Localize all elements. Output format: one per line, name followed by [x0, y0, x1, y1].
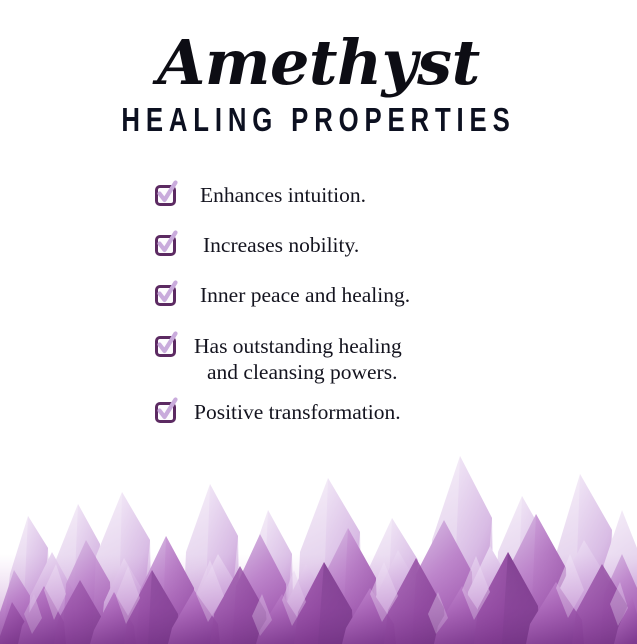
check-icon [157, 231, 179, 257]
check-icon [157, 332, 179, 358]
checkbox-checked-icon [155, 235, 176, 256]
list-item: Increases nobility. [155, 232, 575, 258]
crystal-base-shading [0, 554, 637, 644]
list-item-label-line2: and cleansing powers. [194, 359, 402, 385]
healing-properties-list: Enhances intuition. Increases nobility. … [155, 182, 575, 449]
check-icon [157, 398, 179, 424]
list-item: Positive transformation. [155, 399, 575, 425]
page-subtitle: HEALING PROPERTIES [70, 103, 567, 136]
page-title: Amethyst [0, 30, 637, 95]
list-item-label: Inner peace and healing. [176, 282, 410, 308]
check-icon [157, 181, 179, 207]
checkbox-checked-icon [155, 285, 176, 306]
list-item: Enhances intuition. [155, 182, 575, 208]
checkbox-checked-icon [155, 402, 176, 423]
list-item: Has outstanding healingand cleansing pow… [155, 333, 575, 385]
checkbox-checked-icon [155, 185, 176, 206]
list-item-label-multiline: Has outstanding healingand cleansing pow… [176, 333, 402, 385]
check-icon [157, 281, 179, 307]
list-item: Inner peace and healing. [155, 282, 575, 308]
list-item-label-line1: Has outstanding healing [194, 334, 402, 358]
list-item-label: Positive transformation. [176, 399, 401, 425]
list-item-label: Enhances intuition. [176, 182, 366, 208]
checkbox-checked-icon [155, 336, 176, 357]
poster-header: Amethyst HEALING PROPERTIES [0, 0, 637, 136]
list-item-label: Increases nobility. [176, 232, 359, 258]
amethyst-crystal-cluster-image [0, 444, 637, 644]
amethyst-healing-properties-poster: Amethyst HEALING PROPERTIES Enhances int… [0, 0, 637, 644]
